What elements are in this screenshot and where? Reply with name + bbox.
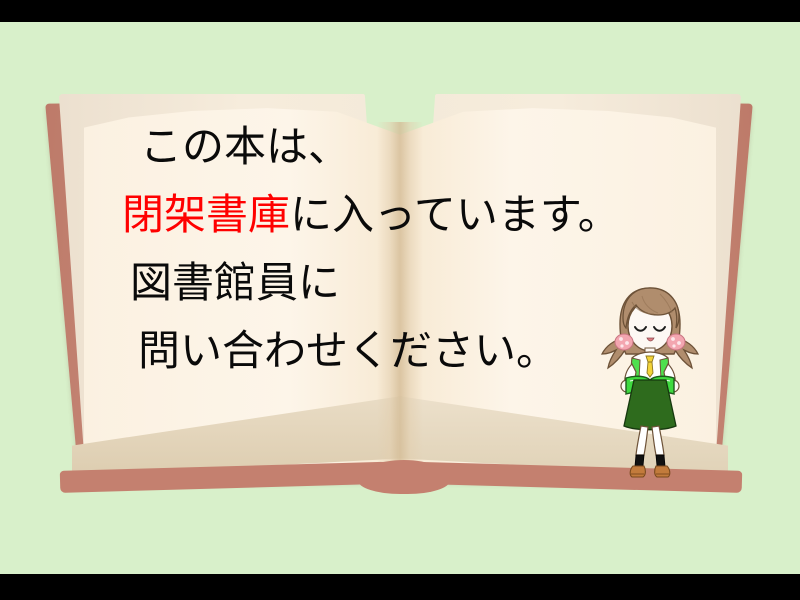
notice-highlight-closed-stacks: 閉架書庫 [122,190,290,239]
slide-background: この本は、 閉架書庫に入っています。 図書館員に 問い合わせください。 [0,22,800,574]
notice-line-2: 閉架書庫に入っています。 [122,194,702,236]
letterbox-top [0,0,800,22]
girl-reading-icon [596,280,704,480]
letterbox-bottom [0,574,800,600]
slide-canvas: この本は、 閉架書庫に入っています。 図書館員に 問い合わせください。 [0,0,800,600]
notice-line-2-rest: に入っています。 [290,190,620,239]
notice-line-1: この本は、 [140,126,702,168]
